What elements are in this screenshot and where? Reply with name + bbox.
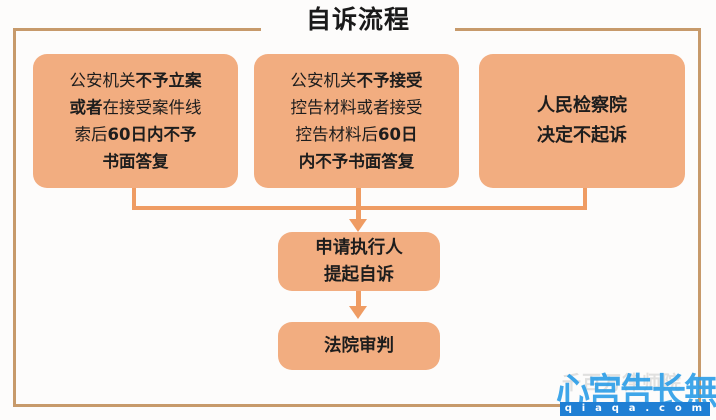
node-public-security-no-filing-label: 公安机关不予立案或者在接受案件线索后60日内不予书面答复 <box>63 67 209 175</box>
connector-down-to-applicant <box>356 206 361 220</box>
frame-border-right <box>698 28 701 407</box>
node-procuratorate-no-prosecution: 人民检察院决定不起诉 <box>479 54 685 188</box>
arrow-head-to-court <box>349 306 367 319</box>
node-public-security-no-filing: 公安机关不予立案或者在接受案件线索后60日内不予书面答复 <box>33 54 238 188</box>
watermark-ghost-text: 千百万律师院 <box>562 368 682 395</box>
connector-down-to-court <box>356 291 361 307</box>
node-court-trial-label: 法院审判 <box>317 333 401 360</box>
node-public-security-no-accept: 公安机关不予接受控告材料或者接受控告材料后60日内不予书面答复 <box>254 54 459 188</box>
node-procuratorate-no-prosecution-label: 人民检察院决定不起诉 <box>530 91 634 151</box>
node-applicant-files-private-prosecution-label: 申请执行人提起自诉 <box>308 235 410 289</box>
frame-border-left <box>13 28 16 407</box>
frame-border-bottom <box>13 404 701 407</box>
page-title: 自诉流程 <box>0 3 716 37</box>
arrow-head-to-applicant <box>349 219 367 232</box>
node-applicant-files-private-prosecution: 申请执行人提起自诉 <box>278 232 440 291</box>
node-court-trial: 法院审判 <box>278 322 440 370</box>
flowchart-canvas: 自诉流程 公安机关不予立案或者在接受案件线索后60日内不予书面答复 公安机关不予… <box>0 0 716 420</box>
watermark: 千百万律师院 心宫告长無弱憬 q i a q a . c o m <box>556 362 712 416</box>
node-public-security-no-accept-label: 公安机关不予接受控告材料或者接受控告材料后60日内不予书面答复 <box>284 67 430 175</box>
